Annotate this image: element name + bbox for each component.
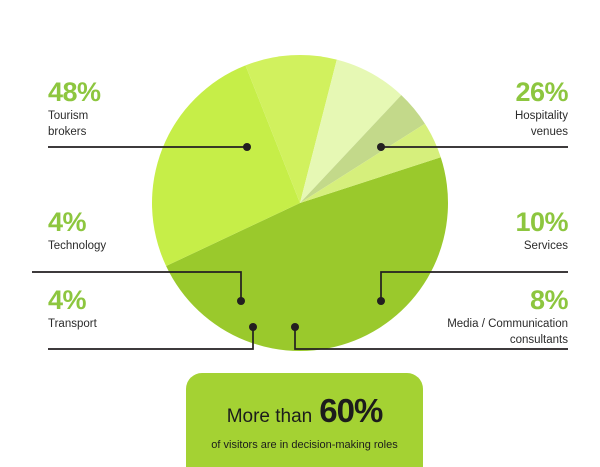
callout-label-line1: Services <box>524 240 568 252</box>
callout-percent-tourism-brokers: 48% <box>48 78 101 106</box>
leader-dot-hospitality-venues <box>377 143 385 151</box>
callout-percent-technology: 4% <box>48 208 106 236</box>
banner-highlight-value: 60% <box>319 392 382 430</box>
callout-label-line1: Technology <box>48 240 106 252</box>
callout-label-hospitality-venues: Hospitality venues <box>515 109 568 140</box>
callout-label-line2: venues <box>531 126 568 138</box>
callout-label-technology: Technology <box>48 239 106 255</box>
banner-subtitle: of visitors are in decision-making roles <box>211 439 397 451</box>
banner-prefix: More than <box>227 406 313 428</box>
callout-percent-hospitality-venues: 26% <box>515 78 568 106</box>
callout-hospitality-venues: 26% Hospitality venues <box>515 78 568 140</box>
callout-label-services: Services <box>515 239 568 255</box>
infographic-root: 48% Tourism brokers 26% Hospitality venu… <box>0 0 600 467</box>
callout-percent-media-communication: 8% <box>447 286 568 314</box>
leader-dot-transport <box>249 323 257 331</box>
callout-label-line1: Hospitality <box>515 110 568 122</box>
callout-label-line1: Media / Communication <box>447 318 568 330</box>
callout-percent-transport: 4% <box>48 286 97 314</box>
callout-technology: 4% Technology <box>48 208 106 255</box>
callout-label-line2: consultants <box>510 334 568 346</box>
callout-label-line2: brokers <box>48 126 86 138</box>
callout-tourism-brokers: 48% Tourism brokers <box>48 78 101 140</box>
callout-services: 10% Services <box>515 208 568 255</box>
banner-headline: More than 60% <box>227 392 383 430</box>
leader-dot-services <box>377 297 385 305</box>
leader-dot-technology <box>237 297 245 305</box>
callout-percent-services: 10% <box>515 208 568 236</box>
leader-dot-media-communication <box>291 323 299 331</box>
callout-label-line1: Tourism <box>48 110 88 122</box>
callout-label-line1: Transport <box>48 318 97 330</box>
callout-transport: 4% Transport <box>48 286 97 333</box>
callout-label-media-communication: Media / Communication consultants <box>447 317 568 348</box>
callout-media-communication: 8% Media / Communication consultants <box>447 286 568 348</box>
highlight-banner: More than 60% of visitors are in decisio… <box>186 373 423 467</box>
callout-label-tourism-brokers: Tourism brokers <box>48 109 101 140</box>
callout-label-transport: Transport <box>48 317 97 333</box>
leader-dot-tourism-brokers <box>243 143 251 151</box>
